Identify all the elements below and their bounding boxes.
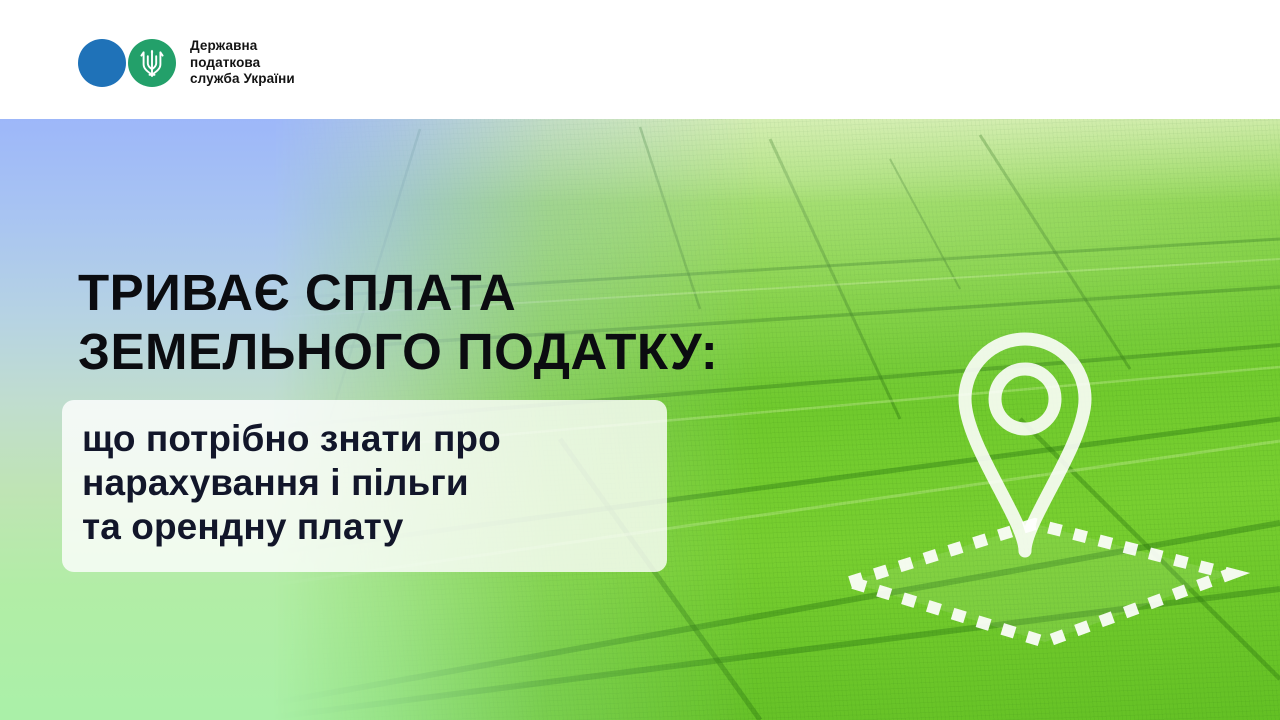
subtitle-text: що потрібно знати про нарахування і піль… xyxy=(82,417,657,549)
logo-marks xyxy=(78,39,176,87)
subtitle-card: що потрібно знати про нарахування і піль… xyxy=(62,400,667,572)
organization-name: Державна податкова служба України xyxy=(190,38,295,88)
organization-logo[interactable]: Державна податкова служба України xyxy=(78,38,295,88)
headline-line-2: ЗЕМЕЛЬНОГО ПОДАТКУ: xyxy=(78,322,838,381)
org-name-line-2: податкова xyxy=(190,55,295,72)
ukrainian-trident-icon xyxy=(128,39,176,87)
org-name-line-3: служба України xyxy=(190,71,295,88)
headline: ТРИВАЄ СПЛАТА ЗЕМЕЛЬНОГО ПОДАТКУ: xyxy=(78,263,838,381)
logo-circle-blue-icon xyxy=(78,39,126,87)
subtitle-line-2: нарахування і пільги xyxy=(82,461,657,505)
hero-background: ТРИВАЄ СПЛАТА ЗЕМЕЛЬНОГО ПОДАТКУ: що пот… xyxy=(0,119,1280,720)
poster-canvas: ТРИВАЄ СПЛАТА ЗЕМЕЛЬНОГО ПОДАТКУ: що пот… xyxy=(0,0,1280,720)
headline-line-1: ТРИВАЄ СПЛАТА xyxy=(78,263,838,322)
org-name-line-1: Державна xyxy=(190,38,295,55)
subtitle-line-1: що потрібно знати про xyxy=(82,417,657,461)
header-band: Державна податкова служба України xyxy=(0,0,1280,119)
subtitle-line-3: та орендну плату xyxy=(82,505,657,549)
